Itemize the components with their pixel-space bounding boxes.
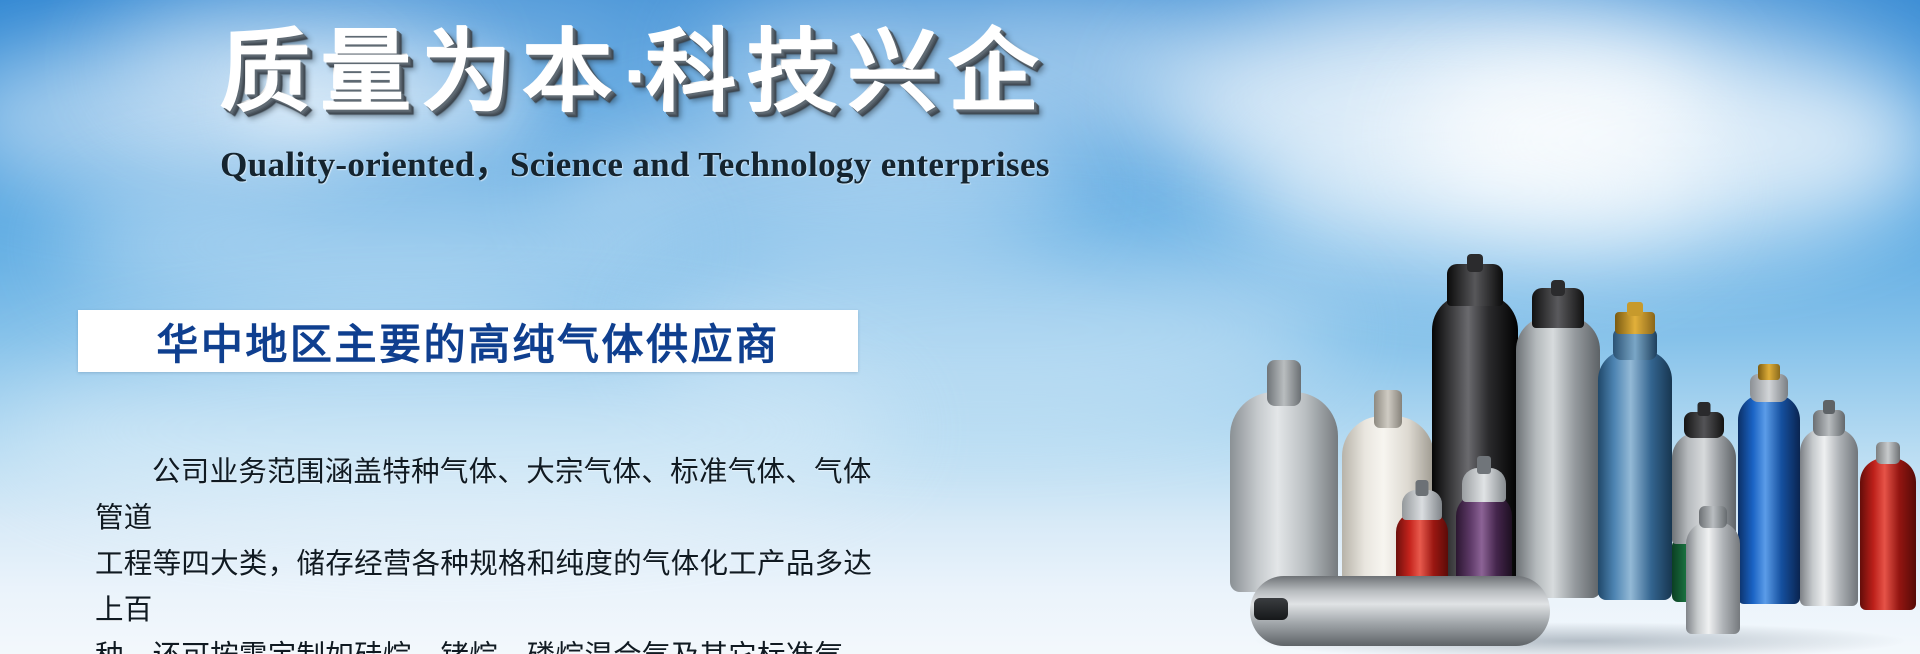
headline-right-text: 科技兴企 [646,20,1049,125]
aluminium-cylinder [1800,396,1858,606]
cylinder-body [1516,316,1600,598]
lying-grey-cylinder [1250,568,1550,646]
valve-knob [1627,302,1643,316]
gas-cylinder-group [1220,234,1920,654]
description-line: 工程等四大类，储存经营各种规格和纯度的气体化工产品多达上百 [95,542,885,634]
cylinder-valve [1416,480,1429,496]
cylinder-body [1250,576,1550,646]
brass-valve-icon [1758,364,1780,380]
cylinder-valve [1254,598,1288,620]
banner-headline: 质量为本·科技兴企 [0,24,1270,121]
description-line: 公司业务范围涵盖特种气体、大宗气体、标准气体、气体管道 [95,450,885,542]
cylinder-body [1686,522,1740,634]
highlight-banner-box: 华中地区主要的高纯气体供应商 [78,310,858,372]
description-line: 种，还可按需定制如硅烷、锗烷、磷烷混合气及其它标准气体。 [95,634,885,654]
highlight-banner-text: 华中地区主要的高纯气体供应商 [78,310,858,372]
company-description: 公司业务范围涵盖特种气体、大宗气体、标准气体、气体管道 工程等四大类，储存经营各… [95,450,885,654]
grey-tall-cylinder [1516,278,1600,598]
blue-steel-cylinder [1598,300,1672,600]
headline-left-text: 质量为本 [220,20,623,125]
blue-bright-cylinder [1738,354,1800,604]
cylinder-valve [1698,402,1711,416]
cylinder-valve [1477,456,1491,474]
cylinder-valve [1823,400,1835,414]
cylinder-valve-guard [1699,506,1727,528]
red-tall-cylinder [1860,430,1916,610]
cylinder-neck [1374,390,1402,428]
cylinder-body [1598,350,1672,600]
cylinder-neck [1876,442,1900,464]
promotional-banner: 质量为本·科技兴企 Quality-oriented，Science and T… [0,0,1920,654]
cylinder-valve [1551,280,1565,296]
cloud-shape [60,170,680,320]
cloud-shape [1420,40,1920,240]
cylinder-body [1860,458,1916,610]
grey-wide-cylinder [1230,362,1338,592]
cylinder-body [1738,394,1800,604]
banner-subheadline: Quality-oriented，Science and Technology … [0,136,1270,187]
aluminium-cylinder [1686,494,1740,634]
cylinder-valve [1467,254,1483,272]
cylinder-body [1800,428,1858,606]
headline-separator-dot: · [624,43,647,113]
cylinder-neck [1267,360,1301,406]
cylinder-body [1230,392,1338,592]
